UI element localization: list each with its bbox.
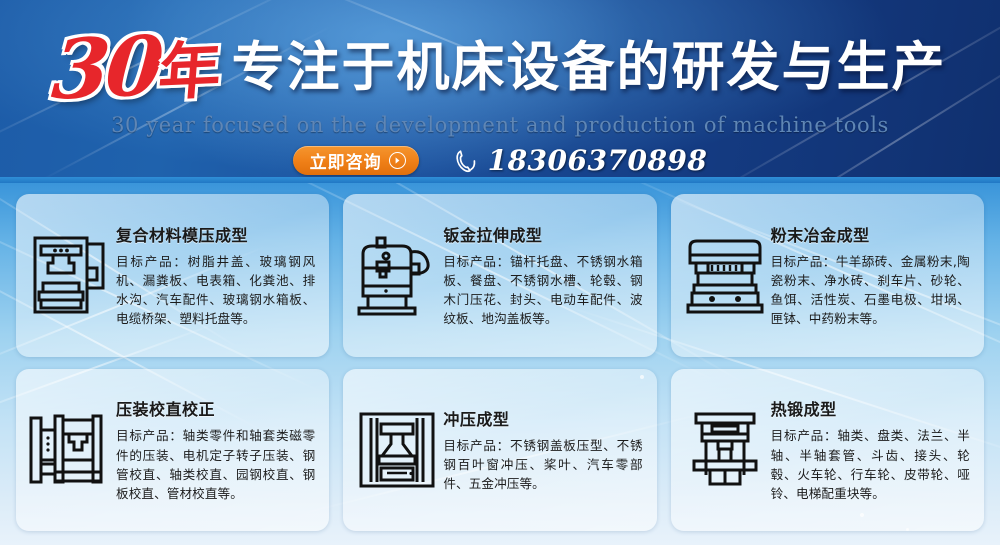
card-description: 目标产品：牛羊舔砖、金属粉末,陶瓷粉末、净水砖、刹车片、砂轮、鱼饵、活性炭、石墨… [771,252,970,329]
stamping-press-icon [351,404,443,496]
card-title: 钣金拉伸成型 [443,222,642,246]
promo-banner: 30年 专注于机床设备的研发与生产 30 year focused on the… [0,0,1000,545]
card-body: 粉末冶金成型 目标产品：牛羊舔砖、金属粉末,陶瓷粉末、净水砖、刹车片、砂轮、鱼饵… [771,222,972,329]
page-title: 专注于机床设备的研发与生产 [232,41,947,94]
card-title: 热锻成型 [771,396,970,420]
card-title: 冲压成型 [443,406,642,430]
card-body: 热锻成型 目标产品：轴类、盘类、法兰、半轴、半轴套管、斗齿、接头、轮毂、火车轮、… [771,396,972,503]
consult-now-button[interactable]: 立即咨询 [293,146,419,175]
molding-press-machine-icon [24,229,116,321]
card-body: 压装校直校正 目标产品：轴类零件和轴套类磁零件的压装、电机定子转子压装、钢管校直… [116,396,317,503]
phone-handset-icon [453,148,479,174]
card-powder-metallurgy[interactable]: 粉末冶金成型 目标产品：牛羊舔砖、金属粉末,陶瓷粉末、净水砖、刹车片、砂轮、鱼饵… [671,194,984,357]
cards-section: 复合材料模压成型 目标产品：树脂井盖、玻璃钢风机、漏粪板、电表箱、化粪池、排水沟… [0,183,1000,545]
card-title: 复合材料模压成型 [116,222,315,246]
card-stamping[interactable]: 冲压成型 目标产品：不锈钢盖板压型、不锈钢百叶窗冲压、桨叶、汽车零部件、五金冲压… [343,369,656,532]
consult-now-label: 立即咨询 [310,148,382,173]
banner-header: 30年 专注于机床设备的研发与生产 30 year focused on the… [0,0,1000,177]
subtitle-english: 30 year focused on the development and p… [0,113,1000,137]
card-sheet-metal-drawing[interactable]: 钣金拉伸成型 目标产品：锚杆托盘、不锈钢水箱板、餐盘、不锈钢水槽、轮毂、钢木门压… [343,194,656,357]
years-badge: 30年 [50,22,225,111]
phone-number[interactable]: 18306370898 [488,144,708,177]
headline-row: 30年 专注于机床设备的研发与生产 [0,26,1000,108]
powder-metallurgy-press-icon [679,229,771,321]
sheet-metal-drawing-press-icon [351,229,443,321]
card-hot-forging[interactable]: 热锻成型 目标产品：轴类、盘类、法兰、半轴、半轴套管、斗齿、接头、轮毂、火车轮、… [671,369,984,532]
card-body: 钣金拉伸成型 目标产品：锚杆托盘、不锈钢水箱板、餐盘、不锈钢水槽、轮毂、钢木门压… [443,222,644,329]
years-unit: 年 [156,33,224,109]
card-body: 复合材料模压成型 目标产品：树脂井盖、玻璃钢风机、漏粪板、电表箱、化粪池、排水沟… [116,222,317,329]
hot-forging-press-icon [679,404,771,496]
card-title: 粉末冶金成型 [771,222,970,246]
circle-arrow-right-icon [389,152,406,169]
card-press-fitting-straightening[interactable]: 压装校直校正 目标产品：轴类零件和轴套类磁零件的压装、电机定子转子压装、钢管校直… [16,369,329,532]
phone-block: 18306370898 [453,144,708,177]
card-title: 压装校直校正 [116,396,315,420]
card-description: 目标产品：轴类零件和轴套类磁零件的压装、电机定子转子压装、钢管校直、轴类校直、园… [116,426,315,503]
card-body: 冲压成型 目标产品：不锈钢盖板压型、不锈钢百叶窗冲压、桨叶、汽车零部件、五金冲压… [443,406,644,493]
card-description: 目标产品：锚杆托盘、不锈钢水箱板、餐盘、不锈钢水槽、轮毂、钢木门压花、封头、电动… [443,252,642,329]
card-description: 目标产品：不锈钢盖板压型、不锈钢百叶窗冲压、桨叶、汽车零部件、五金冲压等。 [443,436,642,493]
years-number: 30 [49,18,163,119]
card-composite-molding[interactable]: 复合材料模压成型 目标产品：树脂井盖、玻璃钢风机、漏粪板、电表箱、化粪池、排水沟… [16,194,329,357]
card-description: 目标产品：轴类、盘类、法兰、半轴、半轴套管、斗齿、接头、轮毂、火车轮、行车轮、皮… [771,426,970,503]
press-fitting-straightening-machine-icon [24,404,116,496]
cta-row: 立即咨询 18306370898 [0,144,1000,177]
card-description: 目标产品：树脂井盖、玻璃钢风机、漏粪板、电表箱、化粪池、排水沟、汽车配件、玻璃钢… [116,252,315,329]
cards-grid: 复合材料模压成型 目标产品：树脂井盖、玻璃钢风机、漏粪板、电表箱、化粪池、排水沟… [0,183,1000,545]
